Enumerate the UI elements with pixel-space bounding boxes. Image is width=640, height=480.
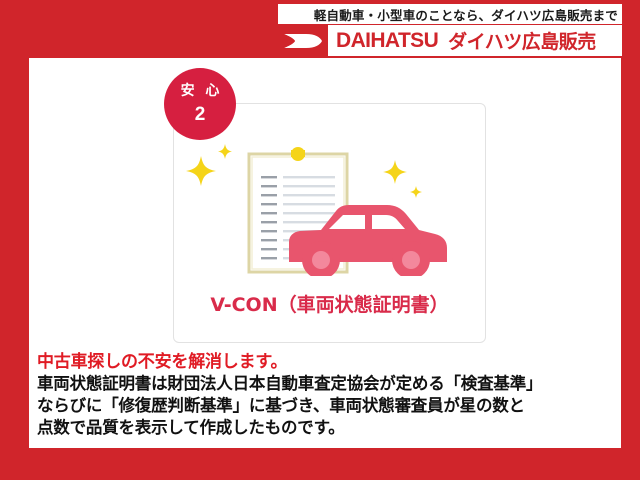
- description-line: 車両状態証明書は財団法人日本自動車査定協会が定める「検査基準」: [37, 373, 621, 395]
- sparkle-icon: [218, 144, 232, 159]
- anshin-badge-number: 2: [195, 105, 206, 124]
- tagline-text: 軽自動車・小型車のことなら、ダイハツ広島販売まで: [314, 5, 618, 24]
- description-headline: 中古車探しの不安を解消します。: [37, 351, 621, 373]
- brand-logo: DAIHATSU ダイハツ広島販売: [278, 25, 622, 56]
- promo-banner: 軽自動車・小型車のことなら、ダイハツ広島販売まで DAIHATSU ダイハツ広島…: [0, 0, 640, 480]
- anshin-badge-label: 安 心: [181, 84, 223, 98]
- sparkle-icon: [383, 160, 407, 184]
- sparkle-icon: [410, 186, 422, 198]
- content-panel: 安 心 2: [29, 58, 621, 448]
- sparkle-icon: [186, 156, 216, 186]
- logo-japanese-name: ダイハツ広島販売: [448, 27, 596, 54]
- anshin-badge: 安 心 2: [164, 68, 236, 140]
- vcon-caption: V-CON（車両状態証明書）: [173, 290, 486, 317]
- description-block: 中古車探しの不安を解消します。 車両状態証明書は財団法人日本自動車査定協会が定め…: [37, 351, 621, 439]
- logo-wordmark: DAIHATSU: [336, 29, 438, 53]
- daihatsu-d-mark-icon: [278, 25, 328, 56]
- description-line: ならびに「修復歴判断基準」に基づき、車両状態審査員が星の数と: [37, 395, 621, 417]
- tagline-panel: 軽自動車・小型車のことなら、ダイハツ広島販売まで: [278, 4, 622, 24]
- description-line: 点数で品質を表示して作成したものです。: [37, 417, 621, 439]
- header-bar: 軽自動車・小型車のことなら、ダイハツ広島販売まで DAIHATSU ダイハツ広島…: [0, 0, 640, 56]
- illustration: [173, 136, 486, 276]
